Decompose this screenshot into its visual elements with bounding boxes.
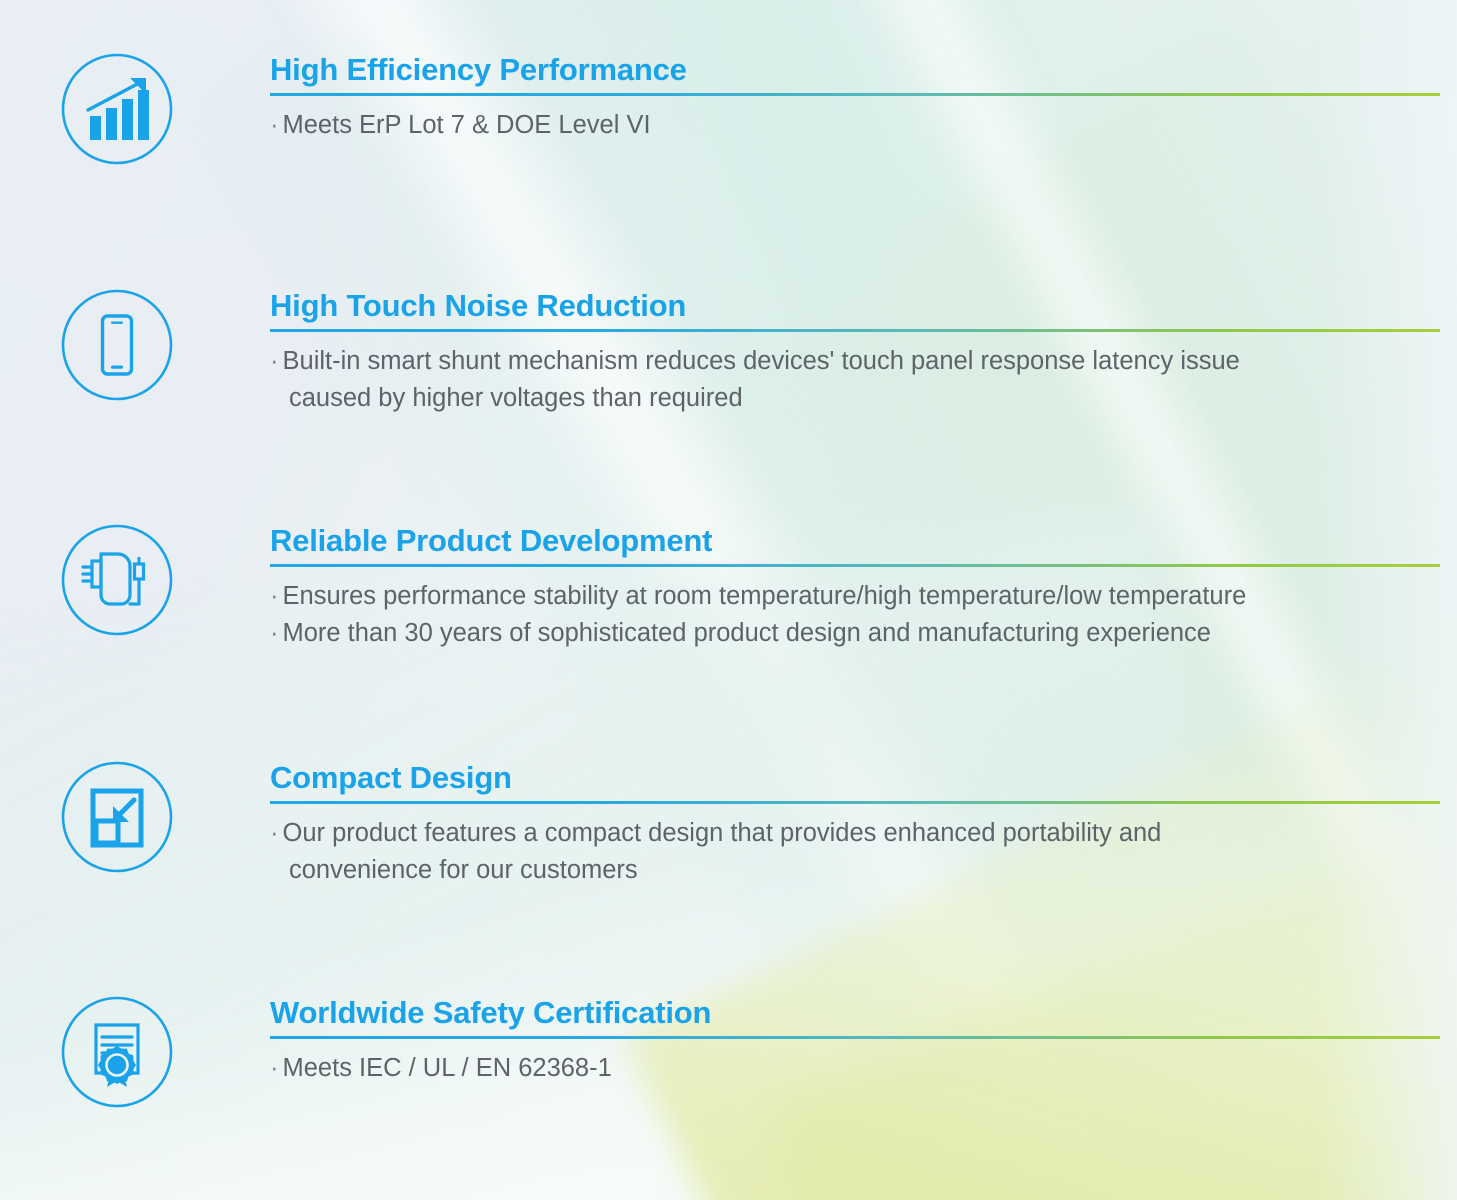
feature-body: Reliable Product Development ·Ensures pe… [270,523,1440,652]
feature-title: Compact Design [270,760,1440,796]
bullet-line: ·Meets IEC / UL / EN 62368-1 [270,1050,1440,1087]
bullet-text: Built-in smart shunt mechanism reduces d… [283,347,1240,375]
feature-highlights-page: High Efficiency Performance ·Meets ErP L… [0,0,1457,1200]
bullet-marker: · [270,1054,279,1082]
smartphone-icon [60,288,174,402]
bullet-text: Meets ErP Lot 7 & DOE Level VI [283,111,651,139]
title-divider [270,1036,1440,1039]
certificate-award-icon [60,995,174,1109]
bullet-text: convenience for our customers [270,852,638,889]
feature-bullets: ·Meets IEC / UL / EN 62368-1 [270,1050,1440,1087]
feature-bullets: ·Meets ErP Lot 7 & DOE Level VI [270,107,1440,144]
bullet-marker: · [270,347,279,375]
bullet-text: Our product features a compact design th… [283,819,1162,847]
title-divider [270,801,1440,804]
features-list: High Efficiency Performance ·Meets ErP L… [0,0,1457,1200]
bullet-line: ·Meets ErP Lot 7 & DOE Level VI [270,107,1440,144]
bullet-text: caused by higher voltages than required [270,380,743,417]
feature-title: Worldwide Safety Certification [270,995,1440,1031]
feature-body: Compact Design ·Our product features a c… [270,760,1440,889]
feature-item-high-efficiency-performance: High Efficiency Performance ·Meets ErP L… [60,52,1390,222]
bullet-marker: · [270,582,279,610]
feature-body: High Touch Noise Reduction ·Built-in sma… [270,288,1440,417]
feature-title: High Touch Noise Reduction [270,288,1440,324]
feature-body: High Efficiency Performance ·Meets ErP L… [270,52,1440,144]
feature-bullets: ·Built-in smart shunt mechanism reduces … [270,343,1440,417]
bar-chart-growth-icon [60,52,174,166]
bullet-text: Meets IEC / UL / EN 62368-1 [283,1054,612,1082]
bullet-marker: · [270,111,279,139]
title-divider [270,564,1440,567]
feature-item-high-touch-noise-reduction: High Touch Noise Reduction ·Built-in sma… [60,288,1390,478]
title-divider [270,329,1440,332]
bullet-line-continued: convenience for our customers [270,852,1440,889]
title-divider [270,93,1440,96]
feature-title: High Efficiency Performance [270,52,1440,88]
bullet-line: ·Ensures performance stability at room t… [270,578,1440,615]
feature-item-reliable-product-development: Reliable Product Development ·Ensures pe… [60,523,1390,713]
feature-title: Reliable Product Development [270,523,1440,559]
bullet-line-continued: caused by higher voltages than required [270,380,1440,417]
feature-body: Worldwide Safety Certification ·Meets IE… [270,995,1440,1087]
bullet-line: ·More than 30 years of sophisticated pro… [270,615,1440,652]
feature-item-worldwide-safety-certification: Worldwide Safety Certification ·Meets IE… [60,995,1390,1165]
bullet-line: ·Built-in smart shunt mechanism reduces … [270,343,1440,380]
compact-resize-icon [60,760,174,874]
bullet-text: Ensures performance stability at room te… [283,582,1247,610]
bullet-line: ·Our product features a compact design t… [270,815,1440,852]
power-adapter-icon [60,523,174,637]
feature-bullets: ·Our product features a compact design t… [270,815,1440,889]
bullet-marker: · [270,619,279,647]
feature-item-compact-design: Compact Design ·Our product features a c… [60,760,1390,950]
bullet-marker: · [270,819,279,847]
bullet-text: More than 30 years of sophisticated prod… [283,619,1211,647]
feature-bullets: ·Ensures performance stability at room t… [270,578,1440,652]
